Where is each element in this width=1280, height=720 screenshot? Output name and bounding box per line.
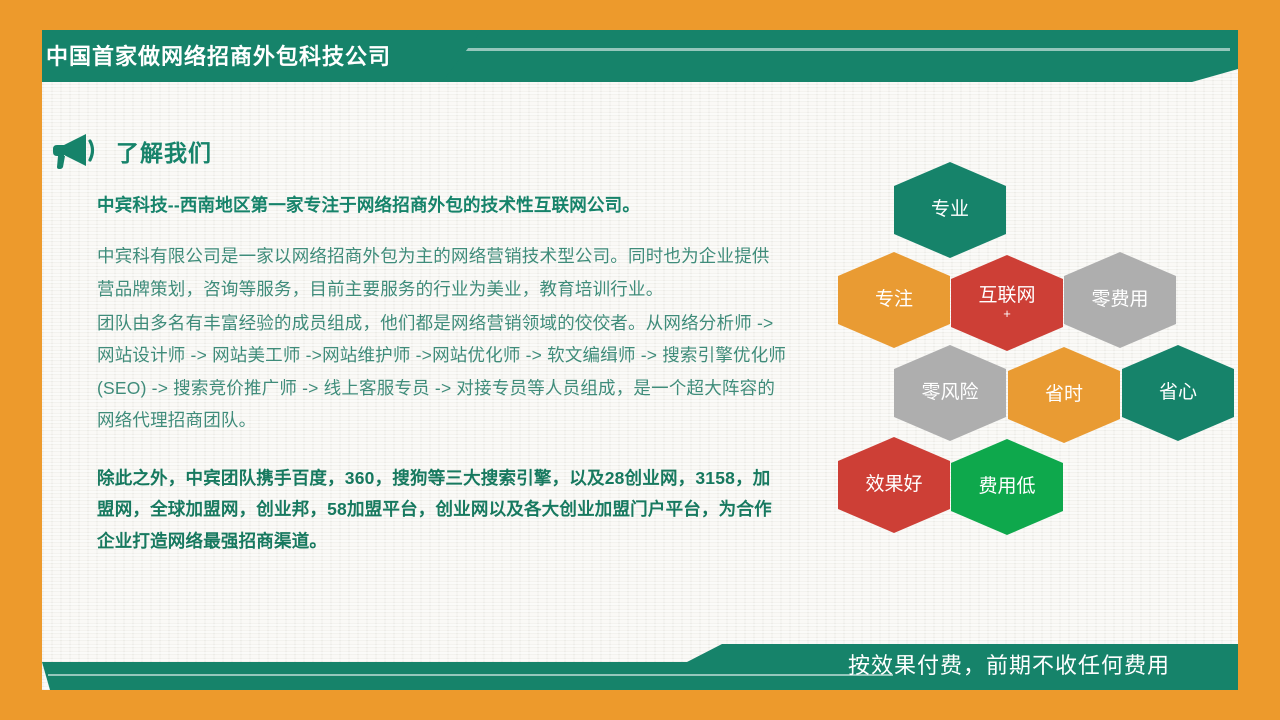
hexagon-label: 专注 [875, 289, 913, 310]
body-text-column: 中宾科技--西南地区第一家专注于网络招商外包的技术性互联网公司。 中宾科有限公司… [97, 192, 787, 558]
hexagon-tile: 省时 [1008, 347, 1120, 443]
footer-accent-line [48, 674, 893, 676]
hexagon-sublabel: + [1003, 307, 1011, 322]
hexagon-label: 零费用 [1091, 289, 1148, 310]
hexagon-label: 零风险 [921, 382, 978, 403]
hexagon-label: 效果好 [865, 474, 922, 495]
hexagon-label: 费用低 [978, 476, 1035, 497]
section-title: 了解我们 [116, 134, 212, 168]
hexagon-label: 省时 [1045, 384, 1083, 405]
megaphone-icon [52, 133, 98, 169]
hexagon-tile: 零风险 [894, 345, 1006, 441]
page-title: 中国首家做网络招商外包科技公司 [46, 39, 391, 71]
hexagon-label: 专业 [931, 199, 969, 220]
hexagon-cluster: 专业专注互联网+零费用零风险省时省心效果好费用低 [836, 160, 1236, 540]
paragraph-2: 团队由多名有丰富经验的成员组成，他们都是网络营销领域的佼佼者。从网络分析师 ->… [97, 307, 787, 437]
hexagon-tile: 效果好 [838, 437, 950, 533]
section-heading: 了解我们 [52, 133, 212, 169]
hexagon-tile: 专注 [838, 252, 950, 348]
hexagon-label: 省心 [1159, 382, 1197, 403]
hexagon-tile: 专业 [894, 162, 1006, 258]
hexagon-tile: 互联网+ [951, 255, 1063, 351]
slide-canvas: 中国首家做网络招商外包科技公司 了解我们 中宾科技--西南地区第一家专注于网络招… [0, 0, 1280, 720]
paragraph-1: 中宾科有限公司是一家以网络招商外包为主的网络营销技术型公司。同时也为企业提供营品… [97, 240, 787, 305]
hexagon-tile: 零费用 [1064, 252, 1176, 348]
lead-paragraph: 中宾科技--西南地区第一家专注于网络招商外包的技术性互联网公司。 [97, 192, 787, 218]
hexagon-tile: 费用低 [951, 439, 1063, 535]
outro-paragraph: 除此之外，中宾团队携手百度，360，搜狗等三大搜索引擎，以及28创业网，3158… [97, 463, 787, 559]
hexagon-label: 互联网 [978, 285, 1035, 306]
hexagon-tile: 省心 [1122, 345, 1234, 441]
footer-tagline: 按效果付费，前期不收任何费用 [848, 648, 1170, 680]
